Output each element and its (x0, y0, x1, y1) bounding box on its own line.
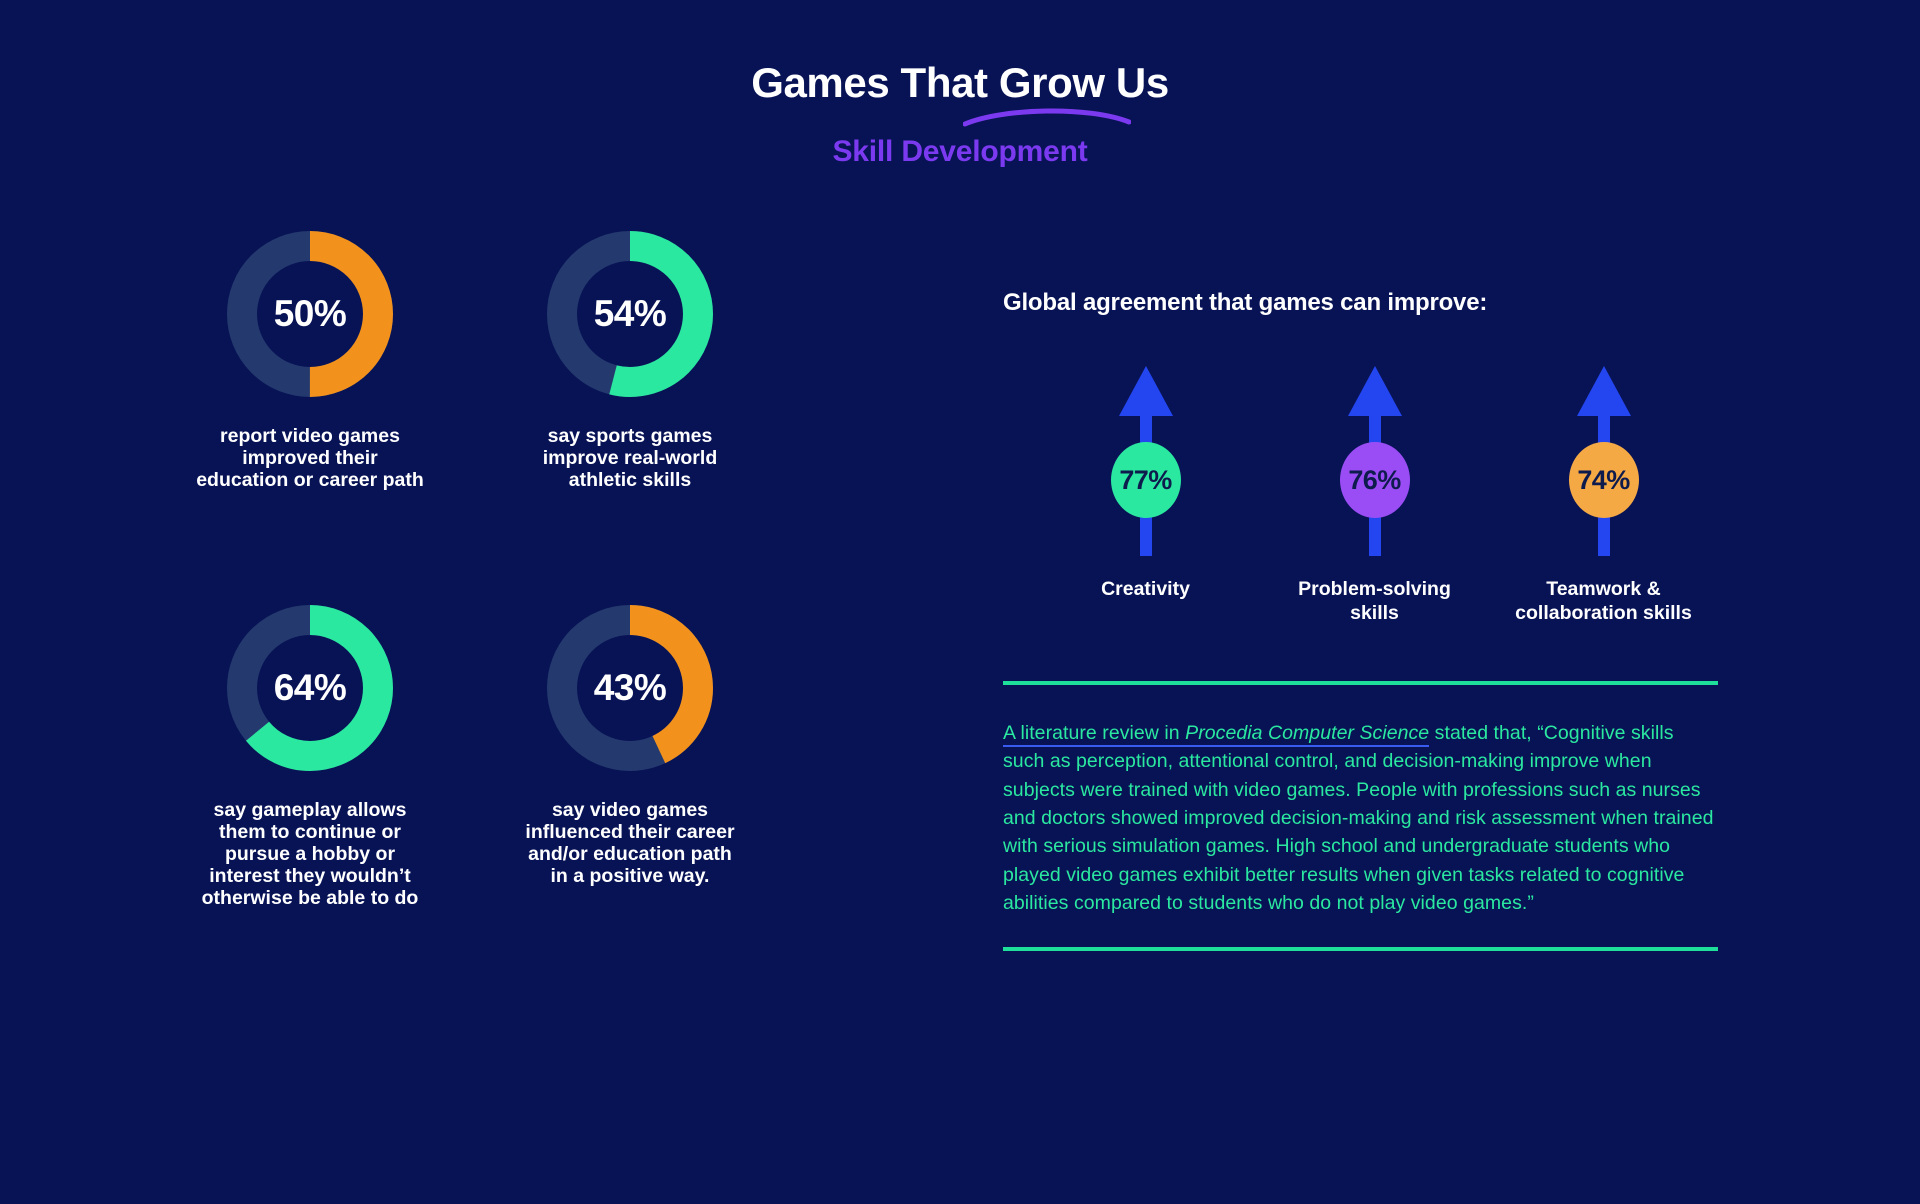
global-agreement-heading: Global agreement that games can improve: (1003, 290, 1718, 316)
donut-caption-50: report video games improved their educat… (196, 426, 424, 491)
donut-card-64: 64% say gameplay allows them to continue… (150, 602, 470, 909)
page-title: Games That Grow Us (751, 62, 1169, 104)
link-source-title: Procedia Computer Science (1185, 722, 1429, 744)
arrow-graphic-teamwork: 74% (1569, 360, 1639, 570)
arrow-stat-creativity: 77% Creativity (1031, 360, 1260, 601)
arrow-stat-problem-solving: 76% Problem-solving skills (1260, 360, 1489, 625)
citation-body: “Cognitive skills such as perception, at… (1003, 722, 1714, 914)
link-lead-in: A literature review in (1003, 722, 1185, 744)
literature-review-link[interactable]: A literature review in Procedia Computer… (1003, 722, 1429, 747)
citation-text: A literature review in Procedia Computer… (1003, 693, 1718, 939)
donut-value-54: 54% (544, 228, 716, 400)
right-panel: Global agreement that games can improve:… (1003, 290, 1718, 959)
donut-caption-54: say sports games improve real-world athl… (543, 426, 717, 491)
citation-block: A literature review in Procedia Computer… (1003, 681, 1718, 951)
donut-value-43: 43% (544, 602, 716, 774)
divider-top (1003, 681, 1718, 685)
donut-value-50: 50% (224, 228, 396, 400)
donut-chart-64: 64% (224, 602, 396, 774)
donut-caption-43: say video games influenced their career … (525, 800, 734, 887)
donut-card-54: 54% say sports games improve real-world … (470, 228, 790, 491)
arrow-stat-teamwork: 74% Teamwork & collaboration skills (1489, 360, 1718, 625)
donut-chart-54: 54% (544, 228, 716, 400)
donut-grid: 50% report video games improved their ed… (150, 228, 790, 910)
arrow-graphic-problem-solving: 76% (1340, 360, 1410, 570)
arrow-value-problem-solving: 76% (1340, 447, 1410, 513)
arrow-stat-row: 77% Creativity 76% Problem-solving skill… (1003, 360, 1718, 625)
donut-chart-43: 43% (544, 602, 716, 774)
arrow-value-creativity: 77% (1111, 447, 1181, 513)
arrow-graphic-creativity: 77% (1111, 360, 1181, 570)
arrow-label-creativity: Creativity (1101, 578, 1190, 601)
arrow-value-teamwork: 74% (1569, 447, 1639, 513)
donut-row-bottom: 64% say gameplay allows them to continue… (150, 602, 790, 909)
arrow-label-teamwork: Teamwork & collaboration skills (1515, 578, 1692, 625)
arrow-label-problem-solving: Problem-solving skills (1298, 578, 1451, 625)
page-subtitle: Skill Development (0, 135, 1920, 169)
donut-card-43: 43% say video games influenced their car… (470, 602, 790, 909)
page-title-text: Games That Grow Us (751, 59, 1169, 106)
header: Games That Grow Us Skill Development (0, 62, 1920, 169)
donut-caption-64: say gameplay allows them to continue or … (202, 800, 419, 909)
donut-card-50: 50% report video games improved their ed… (150, 228, 470, 491)
donut-row-top: 50% report video games improved their ed… (150, 228, 790, 491)
divider-bottom (1003, 947, 1718, 951)
donut-value-64: 64% (224, 602, 396, 774)
link-lead-out: stated that, (1429, 722, 1532, 744)
infographic-canvas: Games That Grow Us Skill Development 50%… (0, 0, 1920, 1204)
donut-chart-50: 50% (224, 228, 396, 400)
